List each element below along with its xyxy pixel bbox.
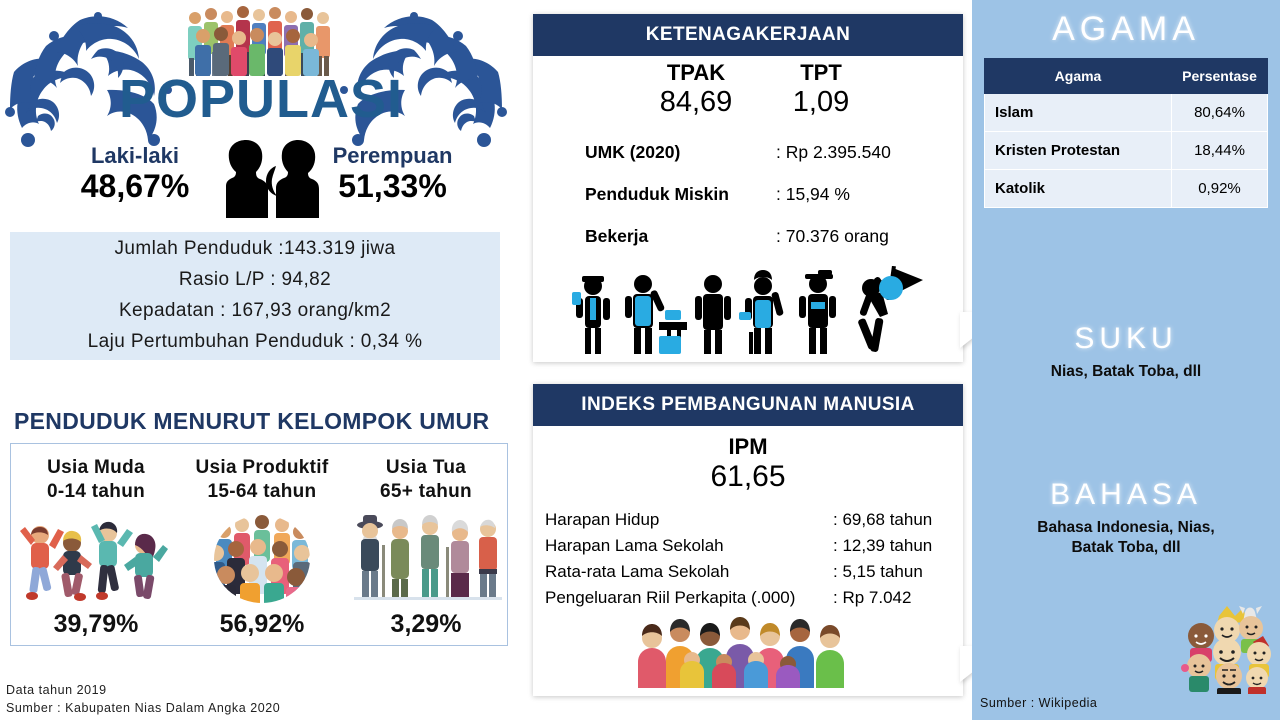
female-percent: 51,33% bbox=[300, 168, 485, 205]
row-key: Penduduk Miskin bbox=[585, 184, 785, 205]
row-value: : 5,15 tahun bbox=[833, 562, 923, 582]
row-key: Rata-rata Lama Sekolah bbox=[545, 562, 729, 582]
stat-line: Jumlah Penduduk :143.319 jiwa bbox=[115, 234, 396, 265]
row-value: : Rp 2.395.540 bbox=[776, 142, 961, 163]
age-group-range: 15-64 tahun bbox=[208, 481, 317, 502]
page-title: POPULASI bbox=[0, 72, 522, 126]
crowd-of-people-icon bbox=[183, 2, 335, 78]
productive-age-crowd-icon bbox=[182, 509, 342, 603]
language-heading: BAHASA bbox=[972, 478, 1280, 512]
population-column: POPULASI Laki-laki 48,67% Perempuan 51,3… bbox=[0, 0, 522, 720]
column-header-agama: Agama bbox=[985, 59, 1172, 94]
hdi-row: Harapan Lama Sekolah : 12,39 tahun bbox=[533, 536, 963, 562]
row-value: : 70.376 orang bbox=[776, 226, 961, 247]
age-group-range: 0-14 tahun bbox=[47, 481, 145, 502]
religion-name: Islam bbox=[985, 94, 1172, 132]
row-key: Bekerja bbox=[585, 226, 785, 247]
age-group-item: Usia Tua 65+ tahun 3,29% bbox=[343, 444, 509, 647]
row-key: Pengeluaran Riil Perkapita (.000) bbox=[545, 588, 795, 608]
kpi-label: TPT bbox=[766, 60, 876, 85]
stat-line: Kepadatan : 167,93 orang/km2 bbox=[119, 296, 391, 327]
employment-panel: KETENAGAKERJAAN TPAK 84,69 TPT 1,09 UMK … bbox=[533, 14, 963, 362]
employment-row: Bekerja : 70.376 orang bbox=[533, 226, 963, 262]
table-row: Katolik 0,92% bbox=[985, 170, 1268, 208]
elderly-people-icon bbox=[346, 509, 506, 603]
hdi-panel-header: INDEKS PEMBANGUNAN MANUSIA bbox=[533, 384, 963, 426]
female-stat: Perempuan 51,33% bbox=[300, 144, 485, 205]
kpi-ipm: IPM 61,65 bbox=[533, 434, 963, 495]
language-value: Bahasa Indonesia, Nias, Batak Toba, dll bbox=[972, 518, 1280, 559]
stat-line: Rasio L/P : 94,82 bbox=[179, 265, 331, 296]
kpi-value: 1,09 bbox=[766, 85, 876, 120]
religion-percent: 18,44% bbox=[1172, 132, 1268, 170]
male-percent: 48,67% bbox=[50, 168, 220, 205]
row-value: : Rp 7.042 bbox=[833, 588, 911, 608]
male-label: Laki-laki bbox=[50, 144, 220, 168]
table-row: Islam 80,64% bbox=[985, 94, 1268, 132]
row-key: UMK (2020) bbox=[585, 142, 785, 163]
religion-percent: 0,92% bbox=[1172, 170, 1268, 208]
hdi-panel: INDEKS PEMBANGUNAN MANUSIA IPM 61,65 Har… bbox=[533, 384, 963, 696]
female-label: Perempuan bbox=[300, 144, 485, 168]
religion-table: Agama Persentase Islam 80,64% Kristen Pr… bbox=[984, 58, 1268, 208]
kpi-value: 61,65 bbox=[533, 459, 963, 495]
age-groups-heading: PENDUDUK MENURUT KELOMPOK UMUR bbox=[14, 408, 514, 435]
row-value: : 69,68 tahun bbox=[833, 510, 932, 530]
employment-panel-header: KETENAGAKERJAAN bbox=[533, 14, 963, 56]
age-group-percent: 39,79% bbox=[13, 610, 179, 639]
culture-column: AGAMA Agama Persentase Islam 80,64% Kris… bbox=[972, 0, 1280, 720]
employment-row: Penduduk Miskin : 15,94 % bbox=[533, 184, 963, 220]
age-group-item: Usia Produktif 15-64 tahun bbox=[179, 444, 345, 647]
gender-breakdown: Laki-laki 48,67% Perempuan 51,33% bbox=[0, 140, 522, 218]
age-group-percent: 56,92% bbox=[179, 610, 345, 639]
employment-kpis: TPAK 84,69 TPT 1,09 bbox=[533, 60, 963, 138]
row-value: : 12,39 tahun bbox=[833, 536, 932, 556]
population-stats-box: Jumlah Penduduk :143.319 jiwa Rasio L/P … bbox=[10, 232, 500, 360]
kpi-label: TPAK bbox=[641, 60, 751, 85]
religion-heading: AGAMA bbox=[972, 10, 1280, 49]
age-group-item: Usia Muda 0-14 tahun 39,79% bbox=[13, 444, 179, 647]
source-line-1: Data tahun 2019 bbox=[6, 681, 486, 699]
table-header-row: Agama Persentase bbox=[985, 59, 1268, 94]
hdi-row: Harapan Hidup : 69,68 tahun bbox=[533, 510, 963, 536]
right-source-note: Sumber : Wikipedia bbox=[980, 696, 1097, 710]
age-group-name: Usia Muda bbox=[47, 457, 145, 478]
age-groups-box: Usia Muda 0-14 tahun 39,79% Usia Produkt… bbox=[10, 443, 508, 646]
left-source-note: Data tahun 2019 Sumber : Kabupaten Nias … bbox=[6, 681, 486, 717]
kpi-tpt: TPT 1,09 bbox=[766, 60, 876, 120]
hdi-row: Rata-rata Lama Sekolah : 5,15 tahun bbox=[533, 562, 963, 588]
religion-percent: 80,64% bbox=[1172, 94, 1268, 132]
family-group-icon bbox=[628, 616, 868, 694]
male-stat: Laki-laki 48,67% bbox=[50, 144, 220, 205]
kpi-tpak: TPAK 84,69 bbox=[641, 60, 751, 120]
religion-name: Kristen Protestan bbox=[985, 132, 1172, 170]
hdi-row: Pengeluaran Riil Perkapita (.000) : Rp 7… bbox=[533, 588, 963, 614]
middle-column: KETENAGAKERJAAN TPAK 84,69 TPT 1,09 UMK … bbox=[522, 0, 972, 720]
workers-pictogram-icon bbox=[563, 266, 933, 356]
row-key: Harapan Lama Sekolah bbox=[545, 536, 724, 556]
employment-row: UMK (2020) : Rp 2.395.540 bbox=[533, 142, 963, 178]
row-key: Harapan Hidup bbox=[545, 510, 659, 530]
religion-name: Katolik bbox=[985, 170, 1172, 208]
table-row: Kristen Protestan 18,44% bbox=[985, 132, 1268, 170]
age-group-name: Usia Tua bbox=[386, 457, 466, 478]
source-line-2: Sumber : Kabupaten Nias Dalam Angka 2020 bbox=[6, 699, 486, 717]
age-group-range: 65+ tahun bbox=[380, 481, 472, 502]
young-people-jumping-icon bbox=[16, 509, 176, 603]
age-group-name: Usia Produktif bbox=[196, 457, 329, 478]
kpi-value: 84,69 bbox=[641, 85, 751, 120]
row-value: : 15,94 % bbox=[776, 184, 961, 205]
ethnicity-heading: SUKU bbox=[972, 322, 1280, 356]
kpi-label: IPM bbox=[533, 434, 963, 459]
infographic-page: POPULASI Laki-laki 48,67% Perempuan 51,3… bbox=[0, 0, 1280, 720]
ethnicity-value: Nias, Batak Toba, dll bbox=[972, 362, 1280, 382]
age-group-percent: 3,29% bbox=[343, 610, 509, 639]
traditional-costume-faces-icon bbox=[1171, 602, 1276, 694]
stat-line: Laju Pertumbuhan Penduduk : 0,34 % bbox=[88, 327, 423, 358]
column-header-persentase: Persentase bbox=[1172, 59, 1268, 94]
